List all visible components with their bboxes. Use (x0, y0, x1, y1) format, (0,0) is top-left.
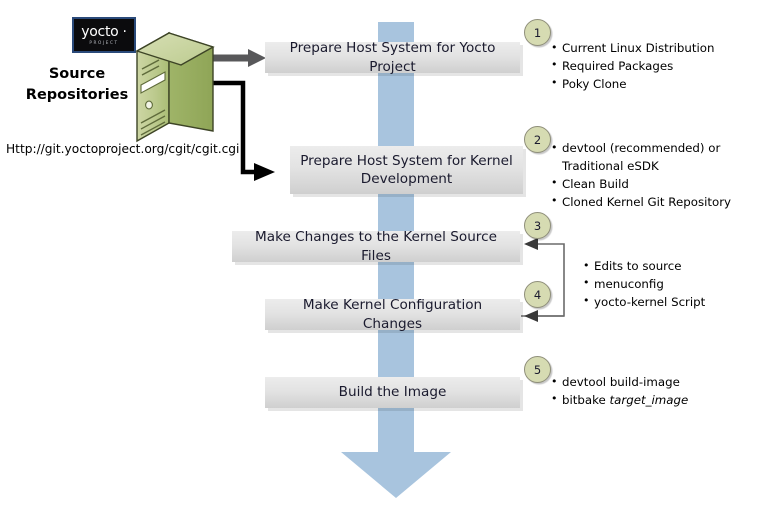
list-item: devtool build-image (551, 374, 766, 392)
process-box-step-4[interactable]: Make Kernel Configuration Changes (265, 299, 520, 330)
list-item: Required Packages (551, 58, 766, 76)
bullet-list-step-1: Current Linux Distribution Required Pack… (551, 40, 766, 94)
list-item-bitbake: bitbake target_image (551, 392, 766, 410)
step-number-3: 3 (524, 212, 551, 239)
list-item: Edits to source (583, 258, 763, 276)
process-box-step-2[interactable]: Prepare Host System for Kernel Developme… (290, 146, 523, 194)
step-number-4: 4 (524, 281, 551, 308)
list-item: devtool (recommended) or Traditional eSD… (551, 140, 766, 176)
list-item: Clean Build (551, 176, 766, 194)
list-item: Poky Clone (551, 76, 766, 94)
process-box-step-5[interactable]: Build the Image (265, 377, 520, 408)
server-tower-icon (135, 25, 215, 147)
step-number-1: 1 (524, 19, 551, 46)
logo-subtitle: PROJECT (89, 41, 118, 45)
process-box-step-1[interactable]: Prepare Host System for Yocto Project (265, 42, 520, 73)
bullet-list-step-2: devtool (recommended) or Traditional eSD… (551, 140, 766, 212)
logo-wordmark: yocto · (81, 25, 126, 39)
source-repositories-label: Source Repositories (14, 64, 140, 106)
bullet-list-step-5: devtool build-image bitbake target_image (551, 374, 766, 410)
yocto-project-logo: yocto · PROJECT (72, 17, 136, 53)
bitbake-target-placeholder: target_image (610, 393, 689, 407)
step-number-2: 2 (524, 126, 551, 153)
list-item: Current Linux Distribution (551, 40, 766, 58)
diagram-canvas: yocto · PROJECT Source Repositories Http… (0, 0, 769, 517)
list-item: yocto-kernel Script (583, 294, 763, 312)
step-number-5: 5 (524, 356, 551, 383)
bitbake-command: bitbake (562, 393, 610, 407)
process-box-step-3[interactable]: Make Changes to the Kernel Source Files (232, 231, 520, 262)
bullet-list-steps-3-4: Edits to source menuconfig yocto-kernel … (583, 258, 763, 312)
arrow-server-to-step1 (213, 49, 266, 67)
list-item: menuconfig (583, 276, 763, 294)
arrow-server-to-step2 (213, 83, 275, 181)
arrow-into-step4 (524, 310, 564, 322)
list-item: Cloned Kernel Git Repository (551, 194, 766, 212)
